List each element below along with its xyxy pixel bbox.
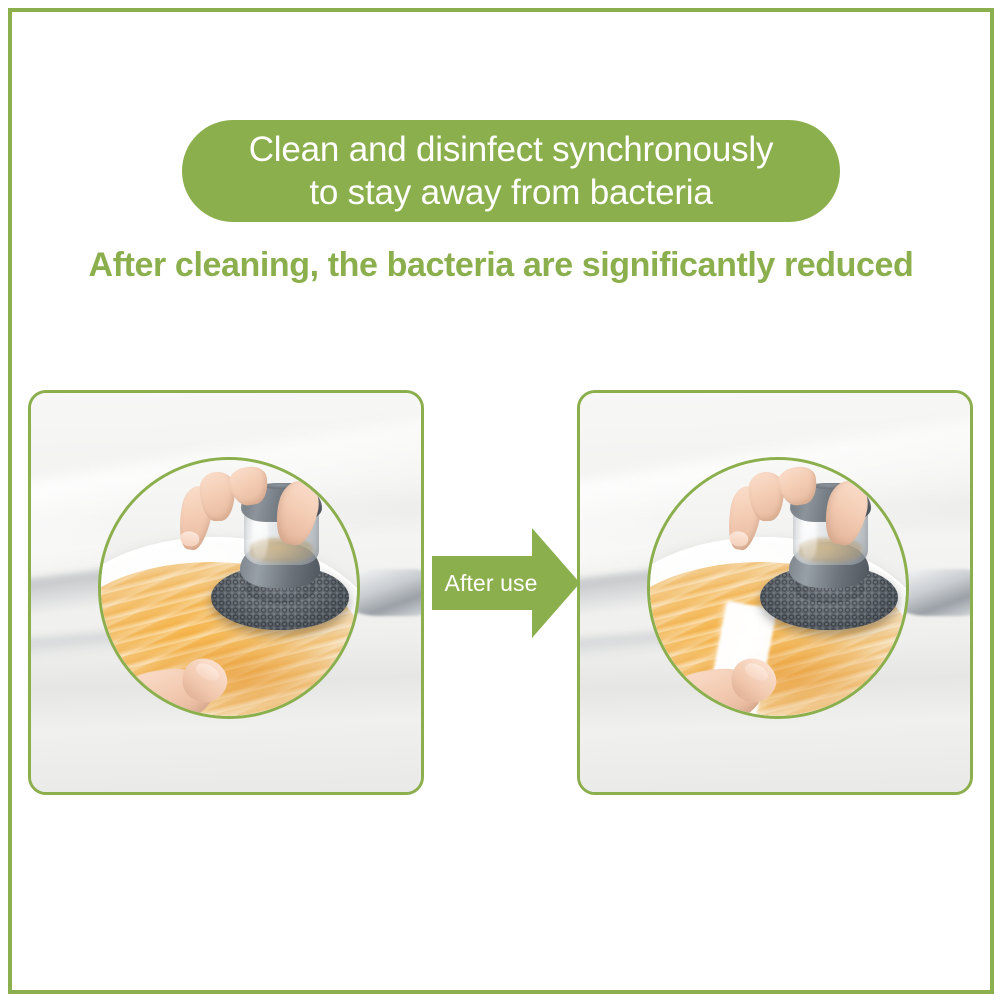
brush-push-cap (241, 483, 321, 522)
headline-line-2: to stay away from bacteria (309, 171, 712, 214)
product-poster: Clean and disinfect synchronously to sta… (0, 0, 1002, 1002)
photo-panel-before (28, 390, 424, 795)
scene-after (580, 393, 970, 792)
magnifier-circle-before (98, 457, 360, 719)
photo-panel-after (577, 390, 973, 795)
brush-cap-top (812, 483, 851, 488)
dish-brush-after (758, 483, 901, 647)
grease-dense-area (151, 639, 338, 715)
magnifier-content (650, 460, 906, 716)
after-use-arrow: After use (432, 528, 580, 638)
brush-cap-top (263, 483, 302, 488)
magnifier-circle-after (647, 457, 909, 719)
arrow-right-icon (432, 528, 580, 638)
headline-banner: Clean and disinfect synchronously to sta… (182, 120, 840, 222)
dish-brush-before (209, 483, 352, 647)
magnifier-content (101, 460, 357, 716)
headline-line-1: Clean and disinfect synchronously (249, 128, 774, 171)
scene-before (31, 393, 421, 792)
brush-push-cap (790, 483, 870, 522)
subtitle-text: After cleaning, the bacteria are signifi… (0, 246, 1002, 285)
